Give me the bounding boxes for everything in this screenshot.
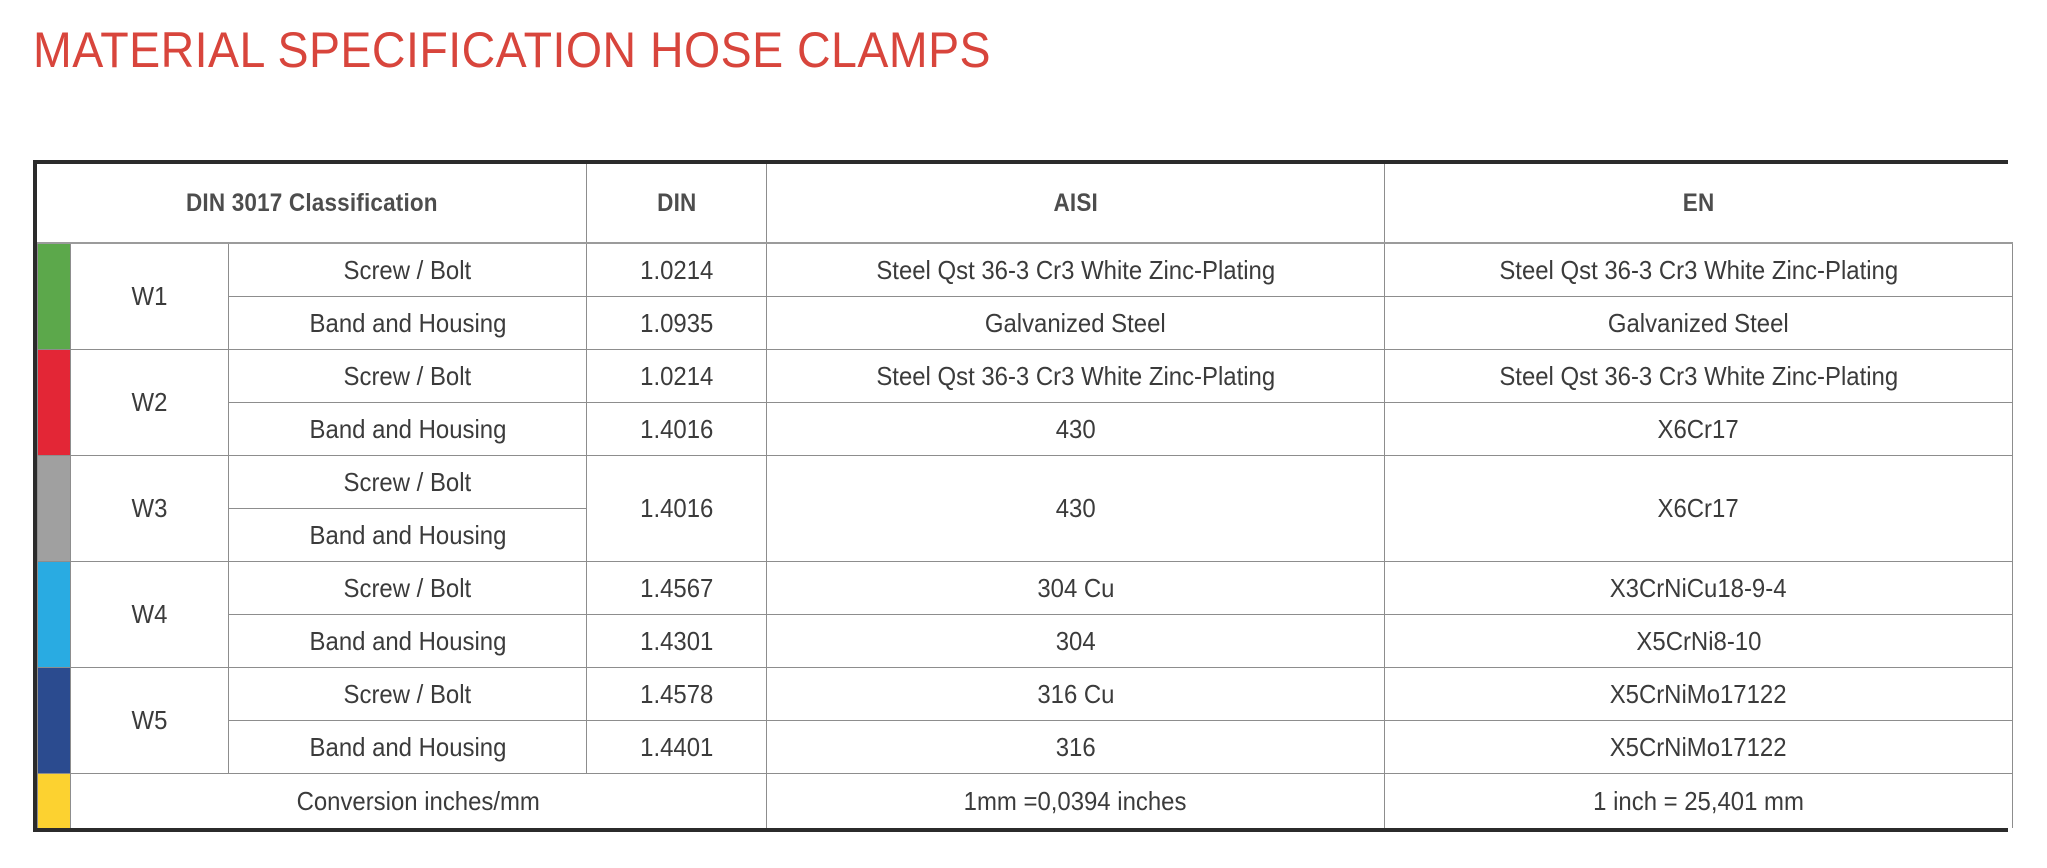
- column-header-din-label: DIN: [657, 189, 696, 218]
- table-row: W2Screw / Bolt1.0214Steel Qst 36-3 Cr3 W…: [38, 350, 2013, 403]
- aisi-cell: 304 Cu: [767, 562, 1385, 615]
- en-cell: X5CrNiMo17122: [1385, 721, 2013, 774]
- aisi-cell-text: Steel Qst 36-3 Cr3 White Zinc-Plating: [876, 255, 1275, 286]
- part-name-cell: Band and Housing: [229, 615, 587, 668]
- part-name-cell-text: Band and Housing: [309, 308, 506, 339]
- part-name-cell-text: Screw / Bolt: [344, 361, 472, 392]
- en-cell-text: X5CrNi8-10: [1636, 626, 1761, 657]
- column-header-classification: DIN 3017 Classification: [38, 164, 587, 243]
- en-cell: Galvanized Steel: [1385, 297, 2013, 350]
- conversion-inch-to-mm-text: 1 inch = 25,401 mm: [1593, 786, 1804, 817]
- part-name-cell: Screw / Bolt: [229, 456, 587, 509]
- en-cell: X5CrNi8-10: [1385, 615, 2013, 668]
- part-name-cell-text: Band and Housing: [309, 626, 506, 657]
- en-cell: Steel Qst 36-3 Cr3 White Zinc-Plating: [1385, 350, 2013, 403]
- en-cell: X6Cr17: [1385, 456, 2013, 562]
- conversion-inch-to-mm-cell: 1 inch = 25,401 mm: [1385, 774, 2013, 829]
- din-cell-text: 1.0935: [640, 308, 713, 339]
- aisi-cell-text: 304: [1056, 626, 1096, 657]
- en-cell-text: X5CrNiMo17122: [1610, 679, 1787, 710]
- aisi-cell: 430: [767, 403, 1385, 456]
- material-specification-table: DIN 3017 Classification DIN AISI EN W1Sc…: [37, 164, 2013, 828]
- en-cell: X5CrNiMo17122: [1385, 668, 2013, 721]
- column-header-aisi-label: AISI: [1053, 189, 1097, 218]
- column-header-classification-label: DIN 3017 Classification: [186, 189, 438, 218]
- din-cell-text: 1.0214: [640, 255, 713, 286]
- din-cell-text: 1.4016: [640, 493, 713, 524]
- classification-code-label: W3: [132, 493, 168, 524]
- conversion-row: Conversion inches/mm1mm =0,0394 inches1 …: [38, 774, 2013, 829]
- column-header-en-label: EN: [1683, 189, 1715, 218]
- classification-code-w1: W1: [71, 243, 229, 350]
- en-cell-text: Steel Qst 36-3 Cr3 White Zinc-Plating: [1499, 361, 1898, 392]
- din-cell: 1.0214: [587, 350, 767, 403]
- table-row: W5Screw / Bolt1.4578316 CuX5CrNiMo17122: [38, 668, 2013, 721]
- part-name-cell-text: Screw / Bolt: [344, 679, 472, 710]
- din-cell-text: 1.4567: [640, 573, 713, 604]
- en-cell-text: X3CrNiCu18-9-4: [1610, 573, 1787, 604]
- part-name-cell: Screw / Bolt: [229, 562, 587, 615]
- aisi-cell-text: Steel Qst 36-3 Cr3 White Zinc-Plating: [876, 361, 1275, 392]
- color-swatch-w3: [38, 456, 71, 562]
- classification-code-label: W2: [132, 387, 168, 418]
- part-name-cell: Screw / Bolt: [229, 350, 587, 403]
- din-cell: 1.4567: [587, 562, 767, 615]
- part-name-cell-text: Screw / Bolt: [344, 573, 472, 604]
- part-name-cell-text: Band and Housing: [309, 414, 506, 445]
- classification-code-w3: W3: [71, 456, 229, 562]
- conversion-mm-to-inches-text: 1mm =0,0394 inches: [964, 786, 1187, 817]
- aisi-cell: 430: [767, 456, 1385, 562]
- part-name-cell: Band and Housing: [229, 509, 587, 562]
- color-swatch-w5: [38, 668, 71, 774]
- part-name-cell: Screw / Bolt: [229, 243, 587, 297]
- en-cell: Steel Qst 36-3 Cr3 White Zinc-Plating: [1385, 243, 2013, 297]
- aisi-cell-text: 430: [1056, 414, 1096, 445]
- aisi-cell-text: 316: [1056, 732, 1096, 763]
- en-cell-text: Galvanized Steel: [1608, 308, 1789, 339]
- din-cell: 1.4016: [587, 403, 767, 456]
- spec-table-container: DIN 3017 Classification DIN AISI EN W1Sc…: [33, 160, 2008, 832]
- din-cell-text: 1.4578: [640, 679, 713, 710]
- aisi-cell-text: 430: [1056, 493, 1096, 524]
- part-name-cell: Band and Housing: [229, 403, 587, 456]
- aisi-cell: Steel Qst 36-3 Cr3 White Zinc-Plating: [767, 243, 1385, 297]
- aisi-cell-text: 304 Cu: [1037, 573, 1114, 604]
- page-root: MATERIAL SPECIFICATION HOSE CLAMPS DIN 3…: [0, 0, 2047, 868]
- en-cell-text: X5CrNiMo17122: [1610, 732, 1787, 763]
- en-cell-text: Steel Qst 36-3 Cr3 White Zinc-Plating: [1499, 255, 1898, 286]
- din-cell: 1.0935: [587, 297, 767, 350]
- table-row: Band and Housing1.4016430X6Cr17: [38, 403, 2013, 456]
- color-swatch-w1: [38, 243, 71, 350]
- color-swatch-conversion: [38, 774, 71, 829]
- din-cell: 1.0214: [587, 243, 767, 297]
- column-header-aisi: AISI: [767, 164, 1385, 243]
- column-header-din: DIN: [587, 164, 767, 243]
- aisi-cell: 316: [767, 721, 1385, 774]
- conversion-mm-to-inches-cell: 1mm =0,0394 inches: [767, 774, 1385, 829]
- table-row: W4Screw / Bolt1.4567304 CuX3CrNiCu18-9-4: [38, 562, 2013, 615]
- din-cell-text: 1.4401: [640, 732, 713, 763]
- table-body: W1Screw / Bolt1.0214Steel Qst 36-3 Cr3 W…: [38, 243, 2013, 828]
- table-row: W3Screw / Bolt1.4016430X6Cr17: [38, 456, 2013, 509]
- en-cell-text: X6Cr17: [1658, 493, 1739, 524]
- classification-code-w4: W4: [71, 562, 229, 668]
- table-row: Band and Housing1.0935Galvanized SteelGa…: [38, 297, 2013, 350]
- part-name-cell: Band and Housing: [229, 721, 587, 774]
- classification-code-w2: W2: [71, 350, 229, 456]
- page-title: MATERIAL SPECIFICATION HOSE CLAMPS: [33, 20, 991, 80]
- conversion-label-cell: Conversion inches/mm: [71, 774, 767, 829]
- din-cell: 1.4301: [587, 615, 767, 668]
- din-cell: 1.4578: [587, 668, 767, 721]
- part-name-cell: Screw / Bolt: [229, 668, 587, 721]
- conversion-label-text: Conversion inches/mm: [297, 786, 540, 817]
- din-cell-text: 1.4301: [640, 626, 713, 657]
- classification-code-w5: W5: [71, 668, 229, 774]
- classification-code-label: W4: [132, 599, 168, 630]
- column-header-en: EN: [1385, 164, 2013, 243]
- table-header-row: DIN 3017 Classification DIN AISI EN: [38, 164, 2013, 243]
- aisi-cell: Galvanized Steel: [767, 297, 1385, 350]
- table-row: Band and Housing1.4301304X5CrNi8-10: [38, 615, 2013, 668]
- en-cell-text: X6Cr17: [1658, 414, 1739, 445]
- classification-code-label: W5: [132, 705, 168, 736]
- aisi-cell: Steel Qst 36-3 Cr3 White Zinc-Plating: [767, 350, 1385, 403]
- aisi-cell-text: Galvanized Steel: [985, 308, 1166, 339]
- aisi-cell: 316 Cu: [767, 668, 1385, 721]
- table-row: W1Screw / Bolt1.0214Steel Qst 36-3 Cr3 W…: [38, 243, 2013, 297]
- part-name-cell-text: Band and Housing: [309, 732, 506, 763]
- aisi-cell: 304: [767, 615, 1385, 668]
- part-name-cell-text: Band and Housing: [309, 520, 506, 551]
- din-cell: 1.4016: [587, 456, 767, 562]
- aisi-cell-text: 316 Cu: [1037, 679, 1114, 710]
- en-cell: X3CrNiCu18-9-4: [1385, 562, 2013, 615]
- part-name-cell-text: Screw / Bolt: [344, 255, 472, 286]
- table-row: Band and Housing1.4401316X5CrNiMo17122: [38, 721, 2013, 774]
- part-name-cell: Band and Housing: [229, 297, 587, 350]
- color-swatch-w4: [38, 562, 71, 668]
- classification-code-label: W1: [132, 281, 168, 312]
- din-cell: 1.4401: [587, 721, 767, 774]
- din-cell-text: 1.4016: [640, 414, 713, 445]
- table-head: DIN 3017 Classification DIN AISI EN: [38, 164, 2013, 243]
- en-cell: X6Cr17: [1385, 403, 2013, 456]
- part-name-cell-text: Screw / Bolt: [344, 467, 472, 498]
- din-cell-text: 1.0214: [640, 361, 713, 392]
- color-swatch-w2: [38, 350, 71, 456]
